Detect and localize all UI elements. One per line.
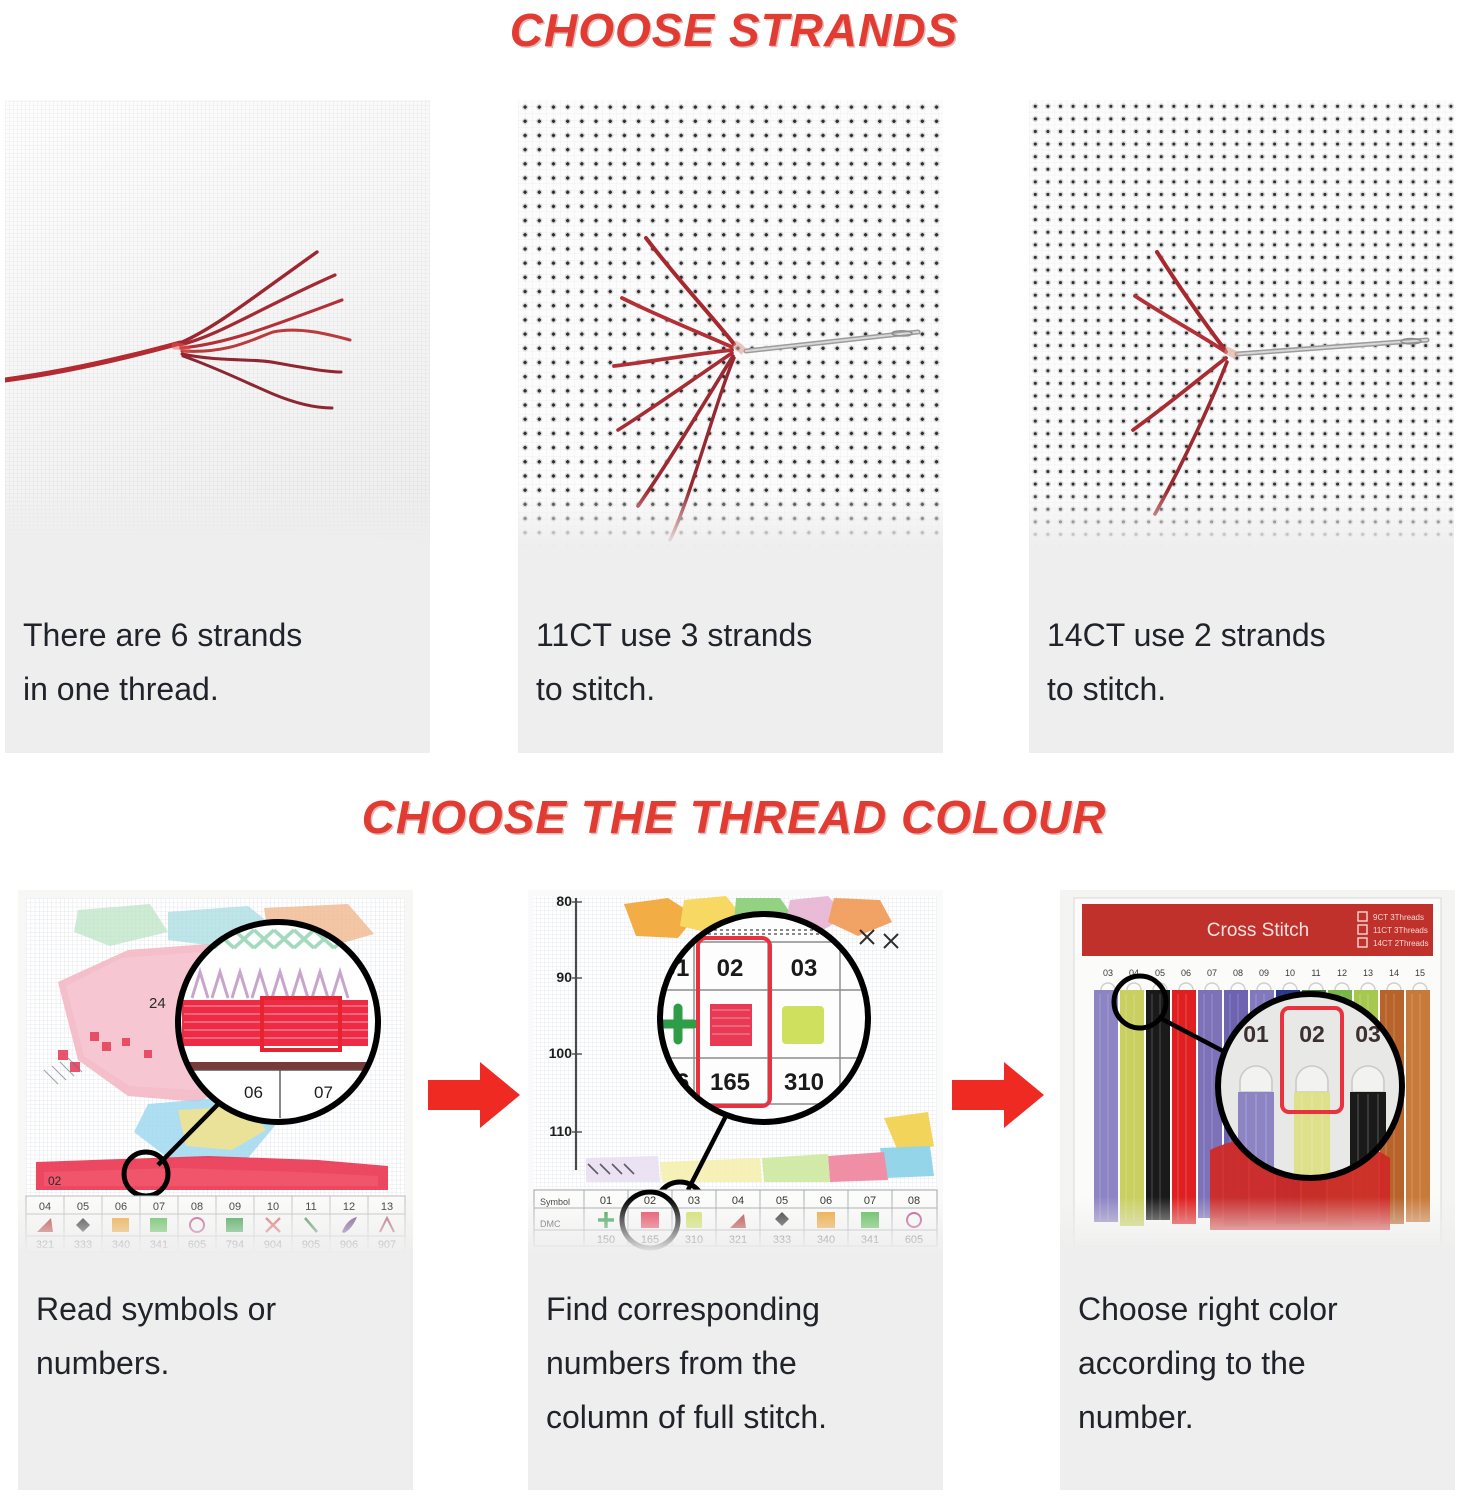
magnifier-number-165: 165 <box>710 1069 750 1096</box>
card-14ct-two-strands: 14CT use 2 strands to stitch. <box>1029 100 1454 753</box>
chart-corner-number: 02 <box>48 1174 62 1188</box>
caption-line-1: Read symbols or <box>36 1282 395 1336</box>
pattern-chart-illustration: 24 02 <box>18 890 413 1257</box>
svg-text:605: 605 <box>905 1234 923 1246</box>
svg-text:04: 04 <box>39 1201 51 1213</box>
svg-text:165: 165 <box>641 1234 659 1246</box>
svg-text:80: 80 <box>556 893 572 909</box>
svg-text:333: 333 <box>74 1239 92 1251</box>
svg-text:321: 321 <box>729 1234 747 1246</box>
svg-text:06: 06 <box>115 1201 127 1213</box>
thread-card-title: Cross Stitch <box>1207 920 1309 941</box>
caption-read-symbols: Read symbols or numbers. <box>18 1282 413 1390</box>
svg-text:321: 321 <box>36 1239 54 1251</box>
photo-six-strands <box>5 100 430 550</box>
svg-text:10: 10 <box>267 1201 279 1213</box>
svg-text:07: 07 <box>153 1201 165 1213</box>
arrow-right-icon-1 <box>428 1058 520 1132</box>
caption-find-numbers: Find corresponding numbers from the colu… <box>528 1282 943 1444</box>
svg-text:100: 100 <box>549 1045 573 1061</box>
magnifier-header-02: 02 <box>717 955 744 982</box>
card-11ct-three-strands: 11CT use 3 strands to stitch. <box>518 100 943 753</box>
caption-line-2: numbers from the <box>546 1336 925 1390</box>
svg-text:07: 07 <box>1207 968 1217 978</box>
photo-thread-organizer-card: Cross Stitch 9CT 3Threads 11CT 3Threads … <box>1060 890 1455 1257</box>
svg-text:150: 150 <box>597 1234 615 1246</box>
needle <box>746 331 918 351</box>
card-find-numbers: 80 90 100 110 <box>528 890 943 1490</box>
svg-text:02: 02 <box>644 1195 656 1207</box>
caption-line-1: There are 6 strands <box>23 608 412 662</box>
svg-text:310: 310 <box>685 1234 703 1246</box>
pattern-chart-with-legend-illustration: 80 90 100 110 <box>528 890 943 1257</box>
svg-text:341: 341 <box>150 1239 168 1251</box>
card-six-strands: There are 6 strands in one thread. <box>5 100 430 753</box>
svg-text:907: 907 <box>378 1239 396 1251</box>
svg-text:13: 13 <box>381 1201 393 1213</box>
two-strands-with-needle-illustration <box>1029 100 1454 550</box>
magnifier-slot-01: 01 <box>1243 1021 1269 1047</box>
svg-text:90: 90 <box>556 969 572 985</box>
svg-text:110: 110 <box>549 1123 572 1139</box>
svg-text:11: 11 <box>1311 968 1320 978</box>
caption-choose-color: Choose right color according to the numb… <box>1060 1282 1455 1444</box>
svg-text:10: 10 <box>1285 968 1295 978</box>
caption-14ct: 14CT use 2 strands to stitch. <box>1029 608 1454 716</box>
caption-line-1: 11CT use 3 strands <box>536 608 925 662</box>
svg-text:340: 340 <box>817 1234 835 1246</box>
symbol-legend-strip: 040506 070809 101112 13 <box>26 1196 405 1252</box>
svg-text:08: 08 <box>908 1195 920 1207</box>
caption-line-2: in one thread. <box>23 662 412 716</box>
svg-text:15: 15 <box>1415 968 1425 978</box>
svg-text:11CT 3Threads: 11CT 3Threads <box>1373 926 1428 935</box>
photo-pattern-chart-left: 24 02 <box>18 890 413 1257</box>
thread-organizer-illustration: Cross Stitch 9CT 3Threads 11CT 3Threads … <box>1060 890 1455 1257</box>
magnifier-symbol-lime-square <box>782 1006 824 1044</box>
caption-11ct: 11CT use 3 strands to stitch. <box>518 608 943 716</box>
caption-line-3: number. <box>1078 1390 1437 1444</box>
svg-text:341: 341 <box>861 1234 879 1246</box>
svg-text:06: 06 <box>1181 968 1191 978</box>
caption-line-2: numbers. <box>36 1336 395 1390</box>
svg-text:08: 08 <box>191 1201 203 1213</box>
symbol-legend-strip: Symbol DMC 010203 040506 0708 <box>534 1190 937 1248</box>
magnifier-label-07: 07 <box>314 1083 333 1102</box>
svg-text:09: 09 <box>229 1201 241 1213</box>
svg-text:9CT 3Threads: 9CT 3Threads <box>1373 913 1424 922</box>
card-choose-color: Cross Stitch 9CT 3Threads 11CT 3Threads … <box>1060 890 1455 1490</box>
card-read-symbols: 24 02 <box>18 890 413 1490</box>
svg-text:905: 905 <box>302 1239 320 1251</box>
caption-line-2: to stitch. <box>1047 662 1436 716</box>
caption-line-2: according to the <box>1078 1336 1437 1390</box>
svg-text:04: 04 <box>732 1195 744 1207</box>
magnifier-number-310: 310 <box>784 1069 824 1096</box>
svg-text:11: 11 <box>305 1201 316 1213</box>
svg-text:794: 794 <box>226 1239 244 1251</box>
photo-11ct-aida <box>518 100 943 550</box>
section-title-choose-thread-colour: CHOOSE THE THREAD COLOUR <box>0 789 1468 845</box>
caption-line-2: to stitch. <box>536 662 925 716</box>
magnifier-header-03: 03 <box>791 955 818 982</box>
six-strands-illustration <box>5 100 430 550</box>
svg-text:07: 07 <box>864 1195 876 1207</box>
arrow-right-icon-2 <box>952 1058 1044 1132</box>
svg-text:14CT 2Threads: 14CT 2Threads <box>1373 939 1428 948</box>
needle <box>1237 339 1427 354</box>
magnifier-lens: 01 02 03 <box>1218 994 1402 1182</box>
caption-line-1: 14CT use 2 strands <box>1047 608 1436 662</box>
svg-text:05: 05 <box>77 1201 89 1213</box>
svg-text:13: 13 <box>1363 968 1373 978</box>
photo-14ct-aida <box>1029 100 1454 550</box>
caption-line-1: Choose right color <box>1078 1282 1437 1336</box>
svg-text:333: 333 <box>773 1234 791 1246</box>
caption-line-1: Find corresponding <box>546 1282 925 1336</box>
chart-grid-number: 24 <box>149 995 166 1012</box>
svg-text:08: 08 <box>1233 968 1243 978</box>
svg-text:05: 05 <box>1155 968 1165 978</box>
thread-card-header: Cross Stitch 9CT 3Threads 11CT 3Threads … <box>1082 904 1433 956</box>
svg-text:06: 06 <box>820 1195 832 1207</box>
svg-text:05: 05 <box>776 1195 788 1207</box>
svg-text:14: 14 <box>1389 968 1399 978</box>
legend-row-label-dmc: DMC <box>540 1219 561 1229</box>
caption-six-strands: There are 6 strands in one thread. <box>5 608 430 716</box>
svg-text:12: 12 <box>1337 968 1347 978</box>
section-title-choose-strands: CHOOSE STRANDS <box>0 2 1468 58</box>
photo-pattern-chart-middle: 80 90 100 110 <box>528 890 943 1257</box>
svg-text:01: 01 <box>600 1195 612 1207</box>
legend-row-label-symbol: Symbol <box>540 1197 570 1207</box>
svg-text:03: 03 <box>688 1195 700 1207</box>
svg-text:09: 09 <box>1259 968 1269 978</box>
caption-line-3: column of full stitch. <box>546 1390 925 1444</box>
svg-text:605: 605 <box>188 1239 206 1251</box>
magnifier-slot-02: 02 <box>1299 1021 1325 1047</box>
three-strands-with-needle-illustration <box>518 100 943 550</box>
svg-text:340: 340 <box>112 1239 130 1251</box>
magnifier-label-06: 06 <box>244 1083 263 1102</box>
svg-text:12: 12 <box>343 1201 355 1213</box>
svg-text:904: 904 <box>264 1239 282 1251</box>
svg-text:906: 906 <box>340 1239 358 1251</box>
svg-text:03: 03 <box>1103 968 1113 978</box>
